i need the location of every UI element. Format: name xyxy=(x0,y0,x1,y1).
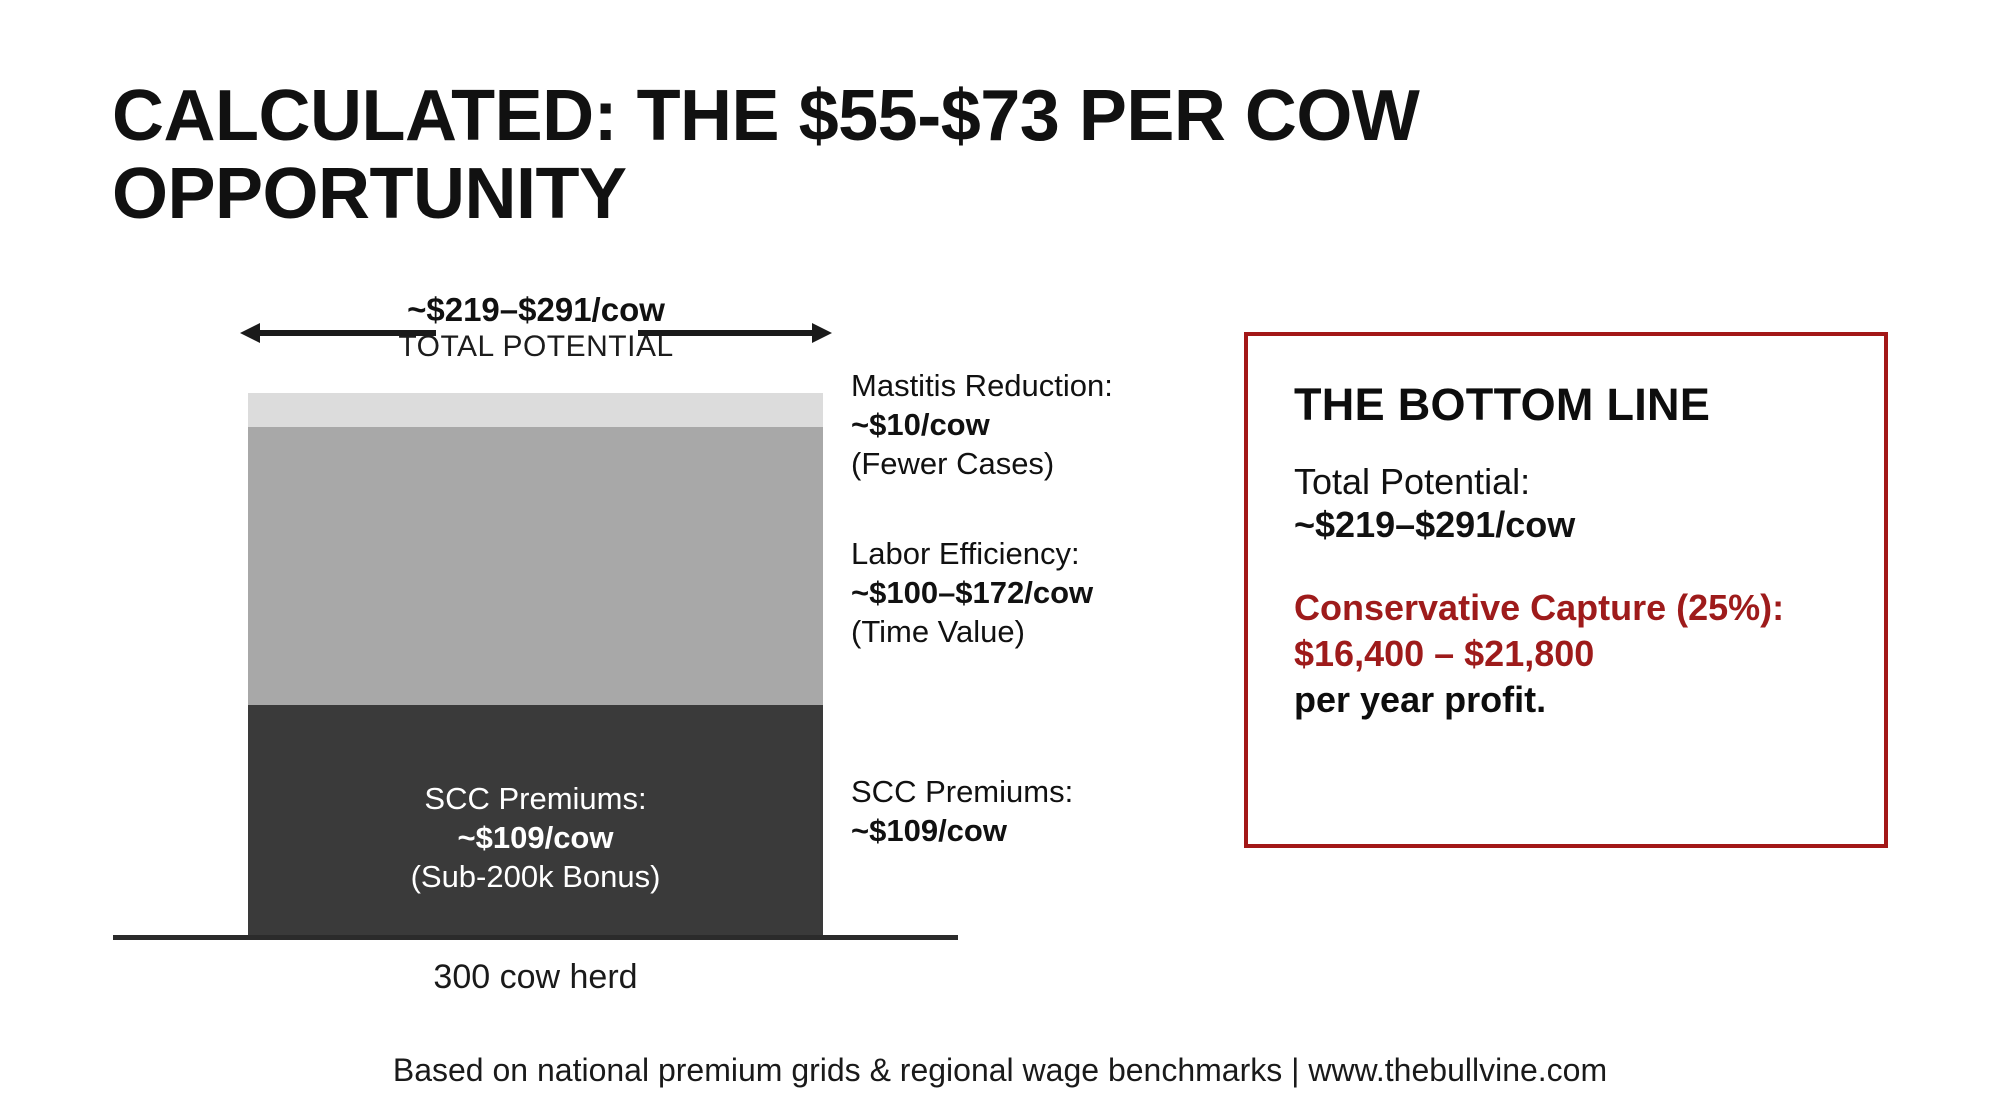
callout-scc: SCC Premiums: ~$109/cow xyxy=(851,772,1251,850)
callout-labor-note: (Time Value) xyxy=(851,612,1251,651)
page-title: CALCULATED: THE $55-$73 PER COW OPPORTUN… xyxy=(112,78,1532,234)
bottom-line-total-value: ~$219–$291/cow xyxy=(1294,503,1838,547)
axis-baseline xyxy=(113,935,958,940)
bottom-line-profit: per year profit. xyxy=(1294,677,1838,723)
bottom-line-heading: THE BOTTOM LINE xyxy=(1294,380,1838,430)
scc-inline-title: SCC Premiums: xyxy=(248,779,823,818)
double-arrow-icon xyxy=(240,318,832,348)
callout-mastitis: Mastitis Reduction: ~$10/cow (Fewer Case… xyxy=(851,366,1251,483)
bar-segment-labor[interactable] xyxy=(248,427,823,705)
stacked-bar-chart: SCC Premiums: ~$109/cow (Sub-200k Bonus) xyxy=(248,393,823,937)
scc-inline-note: (Sub-200k Bonus) xyxy=(248,857,823,896)
slide-canvas: CALCULATED: THE $55-$73 PER COW OPPORTUN… xyxy=(0,0,2000,1116)
scc-inline-value: ~$109/cow xyxy=(248,818,823,857)
bar-segment-mastitis[interactable] xyxy=(248,393,823,427)
bottom-line-content: THE BOTTOM LINE Total Potential: ~$219–$… xyxy=(1248,336,1884,724)
callout-scc-title: SCC Premiums: xyxy=(851,772,1251,811)
bar-segment-scc[interactable]: SCC Premiums: ~$109/cow (Sub-200k Bonus) xyxy=(248,705,823,937)
bottom-line-total-label: Total Potential: xyxy=(1294,460,1838,504)
callout-labor: Labor Efficiency: ~$100–$172/cow (Time V… xyxy=(851,534,1251,651)
bar-segment-scc-label: SCC Premiums: ~$109/cow (Sub-200k Bonus) xyxy=(248,779,823,896)
callout-labor-title: Labor Efficiency: xyxy=(851,534,1251,573)
callout-mastitis-title: Mastitis Reduction: xyxy=(851,366,1251,405)
axis-caption: 300 cow herd xyxy=(248,958,823,997)
bottom-line-capture: Conservative Capture (25%): $16,400 – $2… xyxy=(1294,585,1838,677)
footer-source: Based on national premium grids & region… xyxy=(0,1052,2000,1089)
callout-mastitis-value: ~$10/cow xyxy=(851,405,1251,444)
bottom-line-box: THE BOTTOM LINE Total Potential: ~$219–$… xyxy=(1244,332,1888,848)
callout-mastitis-note: (Fewer Cases) xyxy=(851,444,1251,483)
callout-labor-value: ~$100–$172/cow xyxy=(851,573,1251,612)
callout-scc-value: ~$109/cow xyxy=(851,811,1251,850)
